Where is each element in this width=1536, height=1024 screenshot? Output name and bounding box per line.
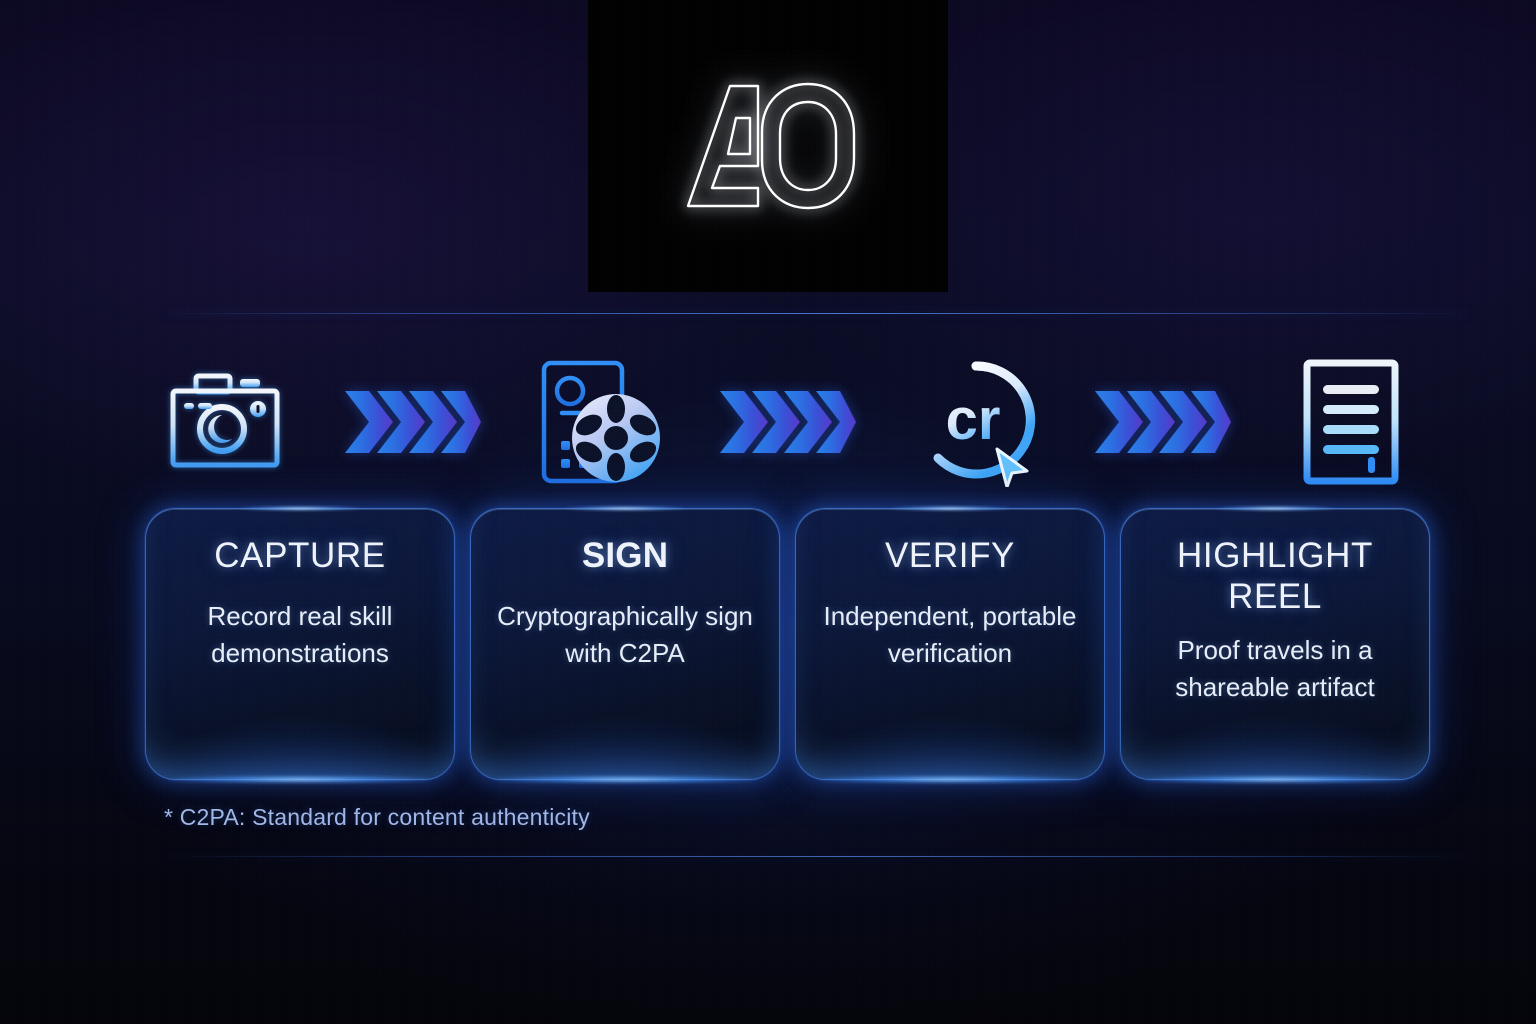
svg-text:cr: cr <box>945 387 1000 452</box>
brand-logo-plate <box>588 0 948 292</box>
card-sign[interactable]: SIGN Cryptographically sign with C2PA <box>470 508 780 780</box>
ao-logo-icon <box>658 66 878 226</box>
document-icon <box>1276 352 1426 492</box>
card-desc-capture: Record real skill demonstrations <box>160 598 440 672</box>
card-verify[interactable]: VERIFY Independent, portable verificatio… <box>795 508 1105 780</box>
card-title-verify: VERIFY <box>885 535 1015 576</box>
camera-icon <box>150 352 300 492</box>
card-desc-verify: Independent, portable verification <box>810 598 1090 672</box>
pipeline-icon-strip: cr <box>150 352 1426 492</box>
card-title-sign: SIGN <box>582 535 668 576</box>
card-title-highlight-reel: HIGHLIGHT REEL <box>1135 535 1415 618</box>
footnote-c2pa: * C2PA: Standard for content authenticit… <box>164 804 590 831</box>
card-title-capture: CAPTURE <box>214 535 385 576</box>
divider-bottom <box>166 856 1468 857</box>
chevron-arrows-icon <box>339 352 487 492</box>
pipeline-cards: CAPTURE Record real skill demonstrations… <box>145 508 1430 780</box>
divider-top <box>166 313 1468 314</box>
slide-canvas: cr <box>0 0 1536 1024</box>
card-highlight-reel[interactable]: HIGHLIGHT REEL Proof travels in a sharea… <box>1120 508 1430 780</box>
chevron-arrows-icon-3 <box>1089 352 1237 492</box>
content-credentials-cr-icon: cr <box>901 352 1051 492</box>
card-desc-highlight-reel: Proof travels in a shareable artifact <box>1135 632 1415 706</box>
card-desc-sign: Cryptographically sign with C2PA <box>485 598 765 672</box>
film-reel-sign-icon <box>525 352 675 492</box>
card-capture[interactable]: CAPTURE Record real skill demonstrations <box>145 508 455 780</box>
chevron-arrows-icon-2 <box>714 352 862 492</box>
